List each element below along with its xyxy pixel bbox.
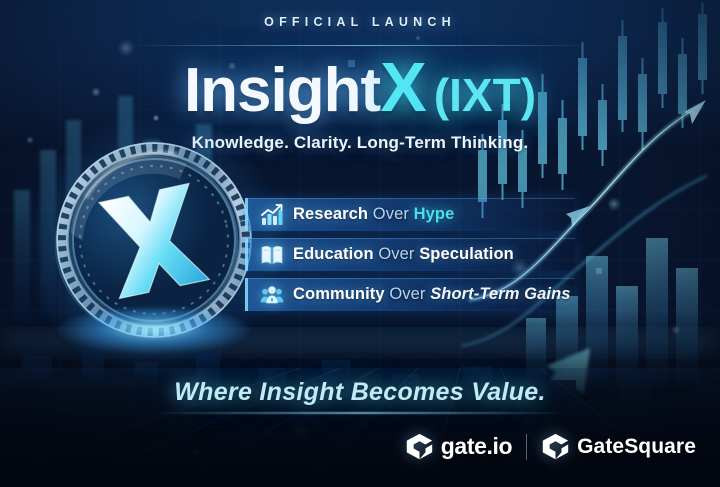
title-ticker: (IXT) — [434, 69, 536, 121]
feature-connector: Over — [373, 205, 409, 223]
feature-connector: Over — [378, 245, 414, 263]
bar-chart-up-icon — [260, 203, 284, 227]
feature-text: Research Over Hype — [293, 205, 454, 224]
coin-graphic — [52, 140, 257, 345]
launch-banner: OFFICIAL LAUNCH InsightX(IXT) Knowledge.… — [0, 0, 720, 487]
title-accent-letter: X — [380, 48, 426, 126]
feature-contrast: Short-Term Gains — [430, 285, 570, 303]
feature-contrast: Hype — [414, 205, 455, 223]
gatesquare-logo-icon — [541, 432, 570, 461]
feature-contrast: Speculation — [419, 245, 514, 263]
feature-list: Research Over Hype Education Over Specul… — [245, 198, 575, 318]
closing-underline — [150, 412, 570, 414]
people-group-icon — [260, 283, 284, 307]
gatesquare-logo[interactable]: GateSquare — [541, 432, 696, 461]
feature-row-education[interactable]: Education Over Speculation — [245, 238, 575, 271]
feature-row-research[interactable]: Research Over Hype — [245, 198, 575, 231]
feature-strong: Community — [293, 285, 385, 303]
partner-logos: gate.io GateSquare — [405, 432, 696, 461]
feature-text: Education Over Speculation — [293, 245, 514, 264]
feature-strong: Education — [293, 245, 374, 263]
feature-text: Community Over Short-Term Gains — [293, 285, 571, 304]
title-name: Insight — [184, 56, 380, 125]
gateio-logo[interactable]: gate.io — [405, 432, 512, 461]
kicker-label: OFFICIAL LAUNCH — [0, 15, 720, 29]
open-book-icon — [260, 243, 284, 267]
coin-pedestal-glow — [56, 308, 252, 354]
feature-connector: Over — [389, 285, 425, 303]
page-title: InsightX(IXT) — [0, 52, 720, 122]
feature-row-community[interactable]: Community Over Short-Term Gains — [245, 278, 575, 311]
kicker-divider — [125, 45, 595, 46]
feature-strong: Research — [293, 205, 368, 223]
logo-divider — [526, 434, 527, 460]
gate-logo-icon — [405, 432, 434, 461]
gateio-label: gate.io — [441, 433, 512, 460]
closing-tagline: Where Insight Becomes Value. — [0, 378, 720, 407]
gatesquare-label: GateSquare — [577, 435, 696, 459]
